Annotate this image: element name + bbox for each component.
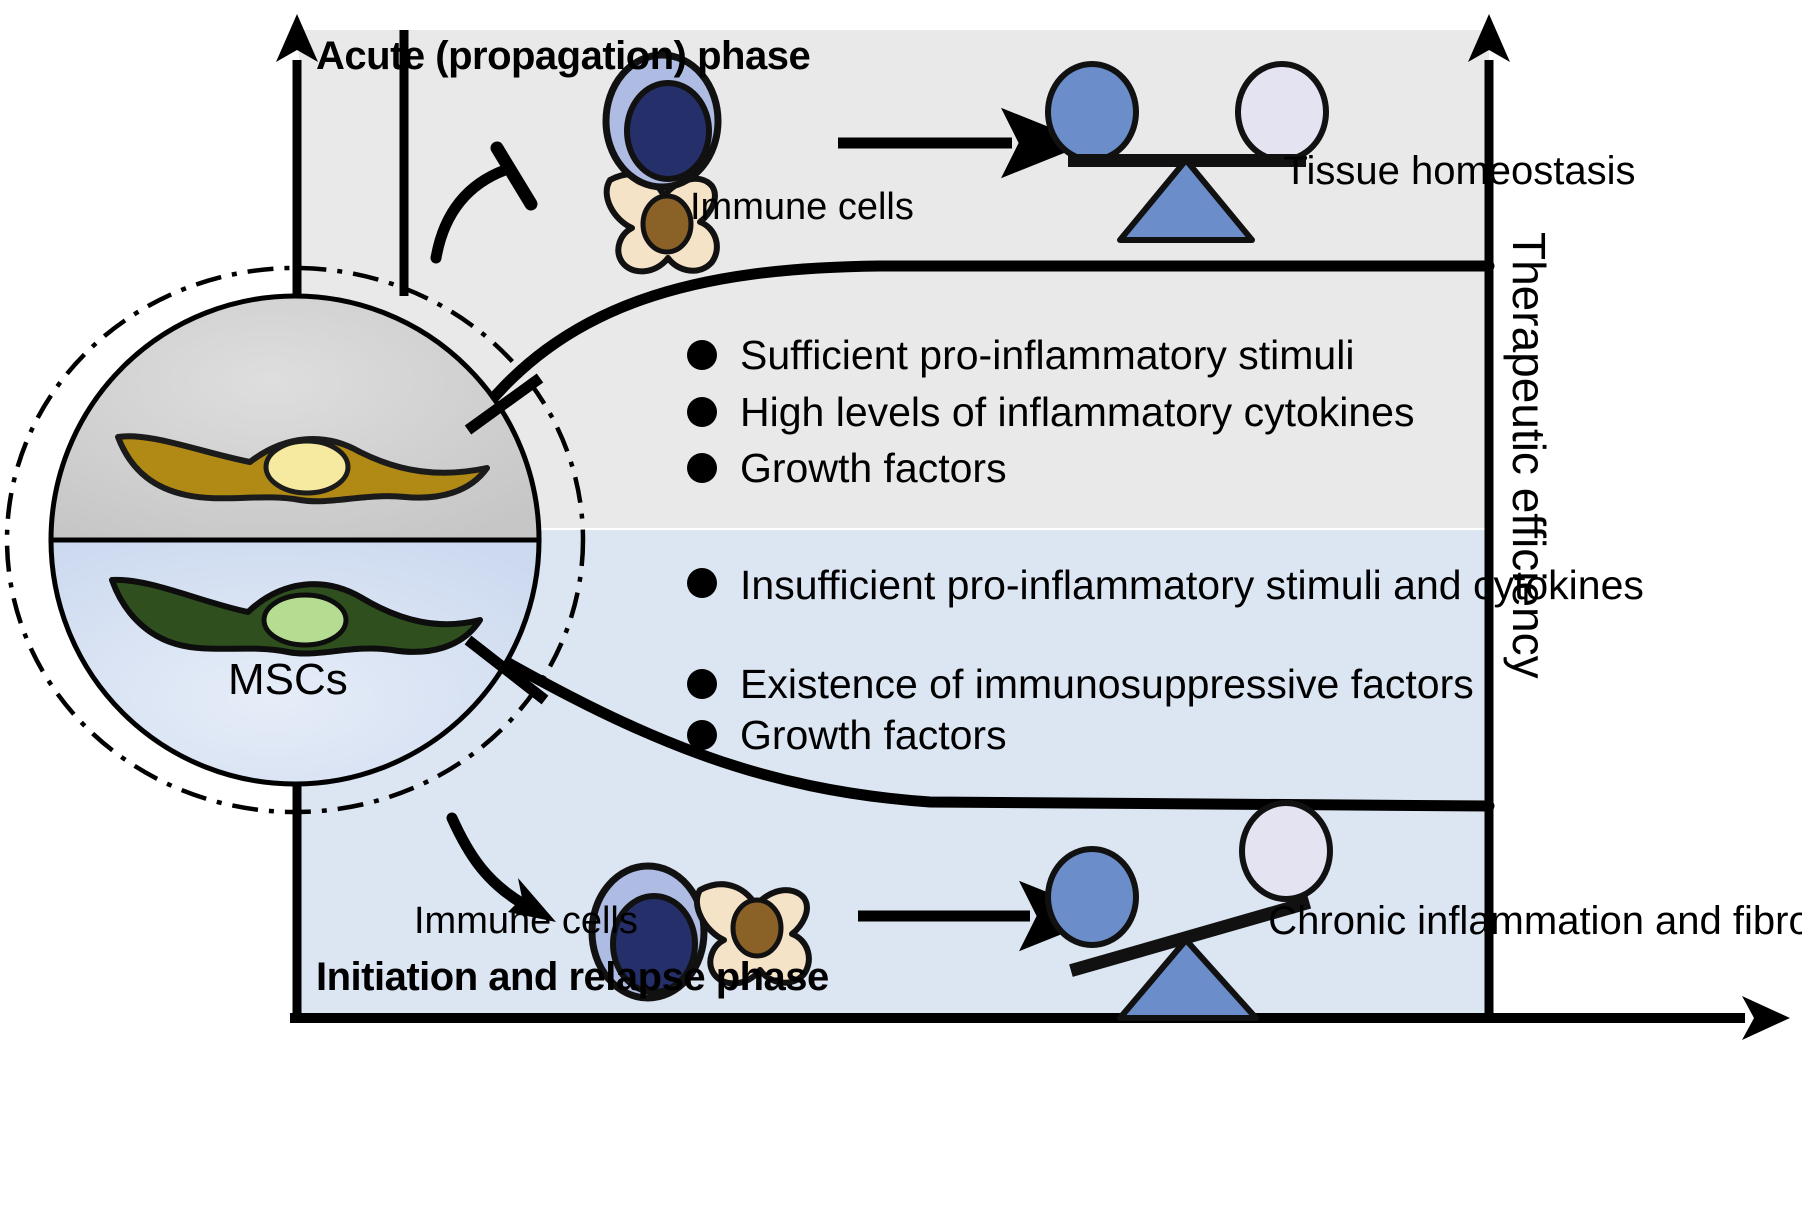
initiation-immune-cells-label: Immune cells <box>414 900 638 943</box>
acute-immune-cells-label: Immune cells <box>690 186 914 229</box>
initiation-phase-title: Initiation and relapse phase <box>316 955 829 1000</box>
initiation-bullet-3: Growth factors <box>740 712 1007 759</box>
y-axis-label: Therapeutic efficiency <box>1502 232 1556 679</box>
bullet-dot <box>687 340 717 370</box>
bullet-dot <box>687 720 717 750</box>
initiation-bullet-1: Insufficient pro-inflammatory stimuli an… <box>740 560 1500 610</box>
scale-weight-blue-top <box>1048 64 1136 160</box>
immune-cell-cluster-top <box>606 55 718 271</box>
initiation-bullet-2: Existence of immunosuppressive factors <box>740 661 1474 708</box>
tissue-homeostasis-text: Tissue homeostasis <box>1284 149 1636 193</box>
msc-circle <box>51 296 539 784</box>
scale-weight-blue-bottom <box>1048 849 1136 945</box>
figure-canvas: Acute (propagation) phase Immune cells T… <box>0 0 1802 1222</box>
chronic-outcome-label: Chronic inflammation and fibrosis <box>1246 840 1486 948</box>
acute-bullet-2: High levels of inflammatory cytokines <box>740 389 1414 436</box>
chronic-outcome-text: Chronic inflammation and fibrosis <box>1268 899 1802 943</box>
acute-bullet-3: Growth factors <box>740 445 1007 492</box>
bullet-dot <box>687 568 717 598</box>
bullet-dot <box>687 397 717 427</box>
bullet-dot <box>687 669 717 699</box>
tissue-homeostasis-label: Tissue homeostasis <box>1262 90 1492 198</box>
bullet-dot <box>687 453 717 483</box>
msc-label: MSCs <box>228 655 348 705</box>
acute-phase-title: Acute (propagation) phase <box>316 34 810 79</box>
acute-bullet-1: Sufficient pro-inflammatory stimuli <box>740 332 1354 379</box>
